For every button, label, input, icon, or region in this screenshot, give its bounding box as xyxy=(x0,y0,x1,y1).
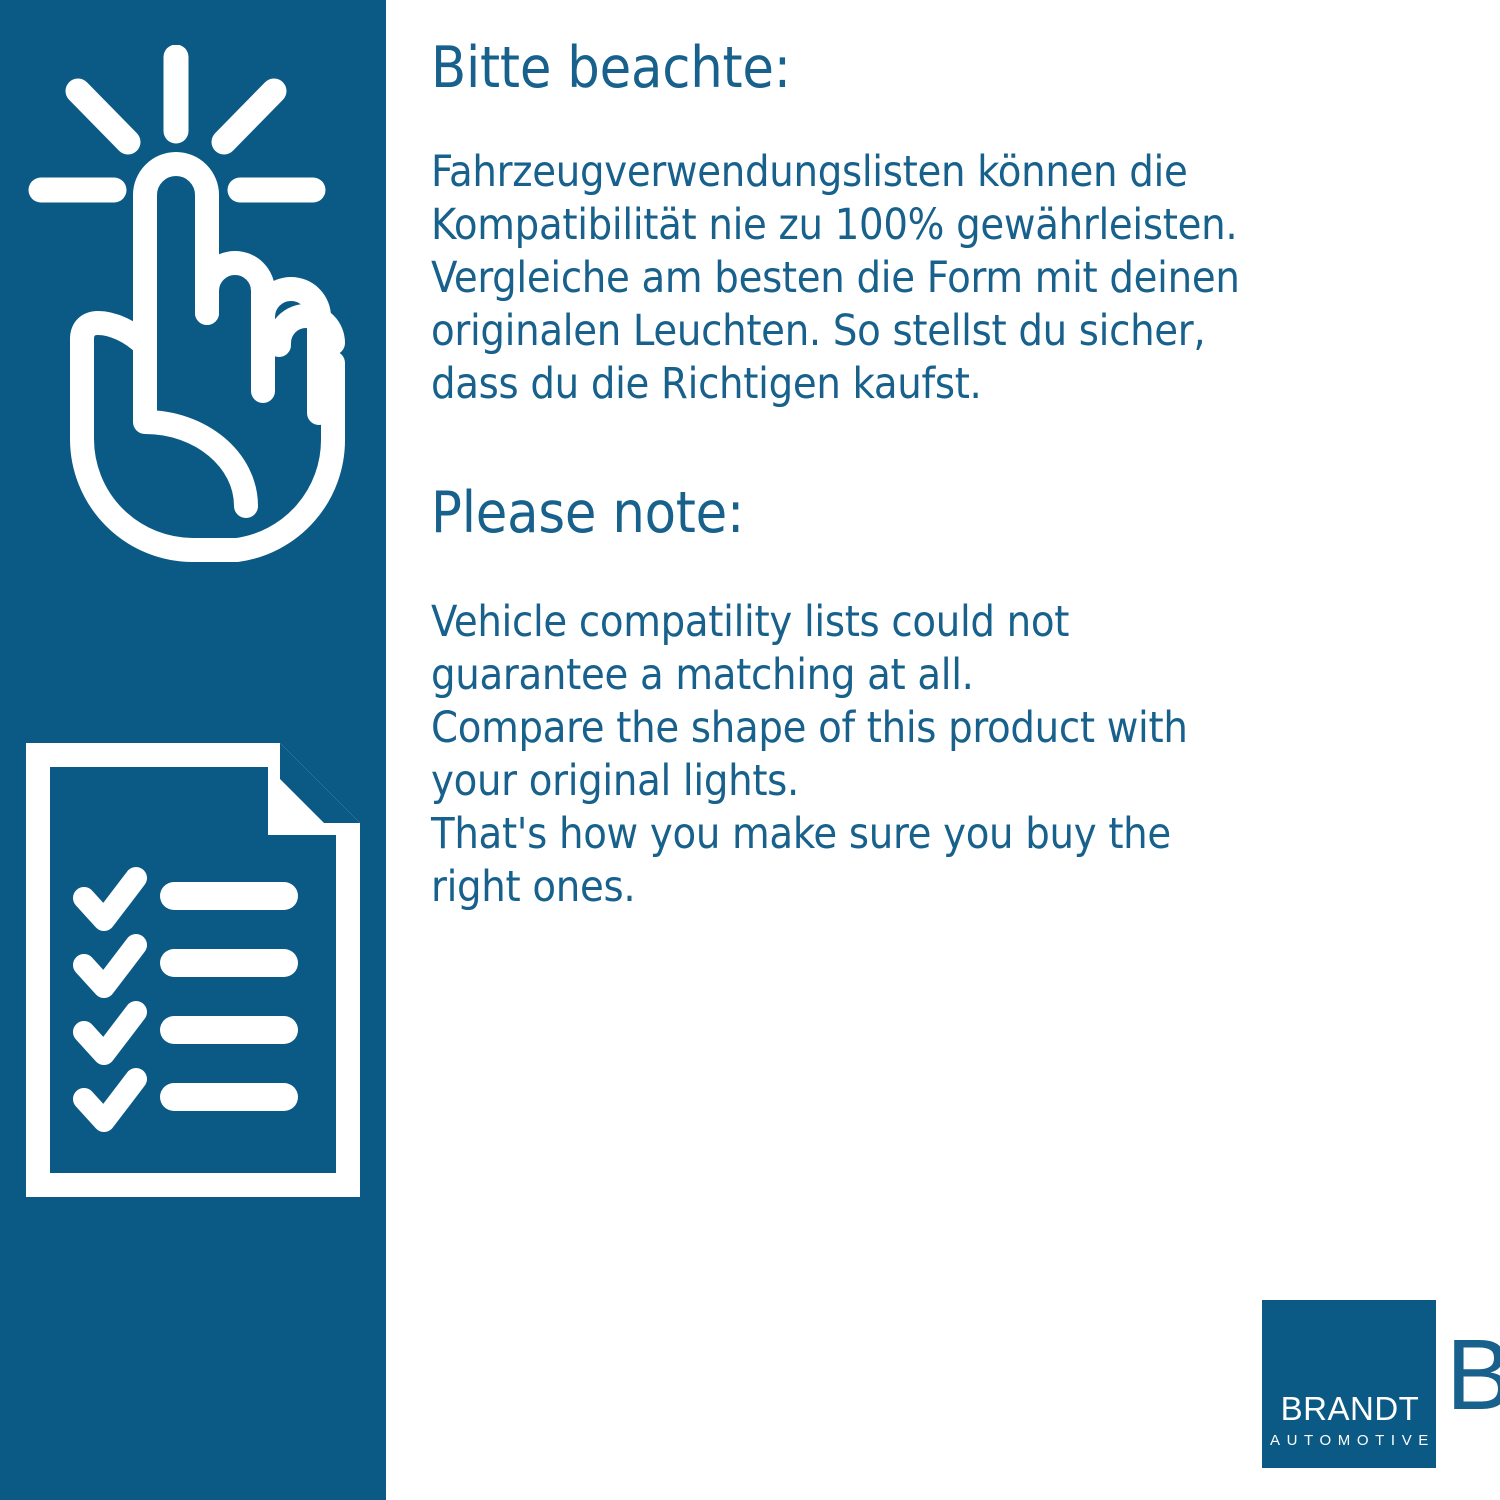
logo-mark-brand-text: BRANDT xyxy=(1270,1392,1430,1425)
logo-wordmark-text: BRANDT xyxy=(1446,1325,1500,1425)
notice-body-en: Vehicle compatility lists could not guar… xyxy=(431,596,1451,914)
logo-mark-box: BRANDT AUTOMOTIVE xyxy=(1262,1300,1436,1468)
list-line-1 xyxy=(160,882,298,910)
ray-top-left xyxy=(78,91,128,142)
notice-banner: Bitte beachte: Fahrzeugverwendungslisten… xyxy=(0,0,1500,1500)
spacer xyxy=(431,100,1451,146)
ray-top-right xyxy=(224,91,274,142)
list-line-2 xyxy=(160,949,298,977)
notice-text-block: Bitte beachte: Fahrzeugverwendungslisten… xyxy=(431,38,1451,914)
brandt-logo: BRANDT AUTOMOTIVE BRANDT xyxy=(1262,1300,1500,1470)
content-panel: Bitte beachte: Fahrzeugverwendungslisten… xyxy=(386,0,1500,1500)
list-line-3 xyxy=(160,1016,298,1044)
thumb-crease xyxy=(145,345,246,506)
notice-heading-de: Bitte beachte: xyxy=(431,38,1451,100)
pointing-hand-click-icon xyxy=(28,45,358,565)
little-finger xyxy=(279,316,333,345)
list-line-4 xyxy=(160,1083,298,1111)
checklist-document-icon xyxy=(18,735,368,1205)
spacer xyxy=(431,411,1451,483)
logo-mark-tagline-text: AUTOMOTIVE xyxy=(1270,1433,1432,1448)
notice-body-de: Fahrzeugverwendungslisten können die Kom… xyxy=(431,146,1451,411)
notice-heading-en: Please note: xyxy=(431,483,1451,545)
sidebar-icon-panel xyxy=(0,0,386,1500)
spacer xyxy=(431,544,1451,596)
